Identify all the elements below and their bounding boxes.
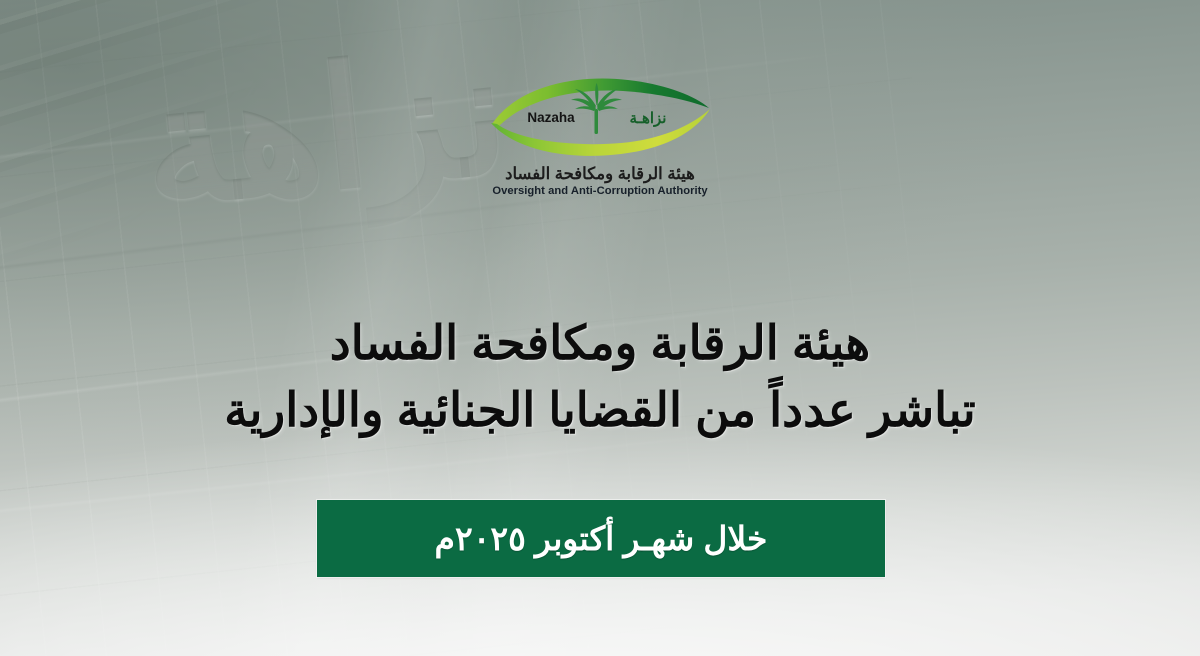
organization-logo: Nazaha نزاهـة هيئة الرقابة ومكافحة الفسا… [0, 78, 1200, 198]
headline-line-1: هيئة الرقابة ومكافحة الفساد [0, 312, 1200, 373]
logo-wordmark-arabic: نزاهـة [630, 110, 667, 127]
logo-wordmark-latin: Nazaha [527, 110, 575, 125]
logo-caption-arabic: هيئة الرقابة ومكافحة الفساد [492, 166, 707, 183]
date-banner-text: خلال شهـر أكتوبر ٢٠٢٥م [435, 519, 768, 558]
logo-caption-english: Oversight and Anti-Corruption Authority [492, 186, 707, 198]
page-title: هيئة الرقابة ومكافحة الفساد تباشر عدداً … [0, 312, 1200, 440]
palm-tree-icon [571, 83, 622, 134]
headline-line-2: تباشر عدداً من القضايا الجنائية والإداري… [0, 379, 1200, 440]
logo-caption-group: هيئة الرقابة ومكافحة الفساد Oversight an… [492, 166, 707, 198]
date-banner: خلال شهـر أكتوبر ٢٠٢٥م [317, 500, 885, 577]
poster-canvas: نزاهة [0, 0, 1200, 656]
nazaha-eye-logo-icon: Nazaha نزاهـة [487, 78, 713, 156]
